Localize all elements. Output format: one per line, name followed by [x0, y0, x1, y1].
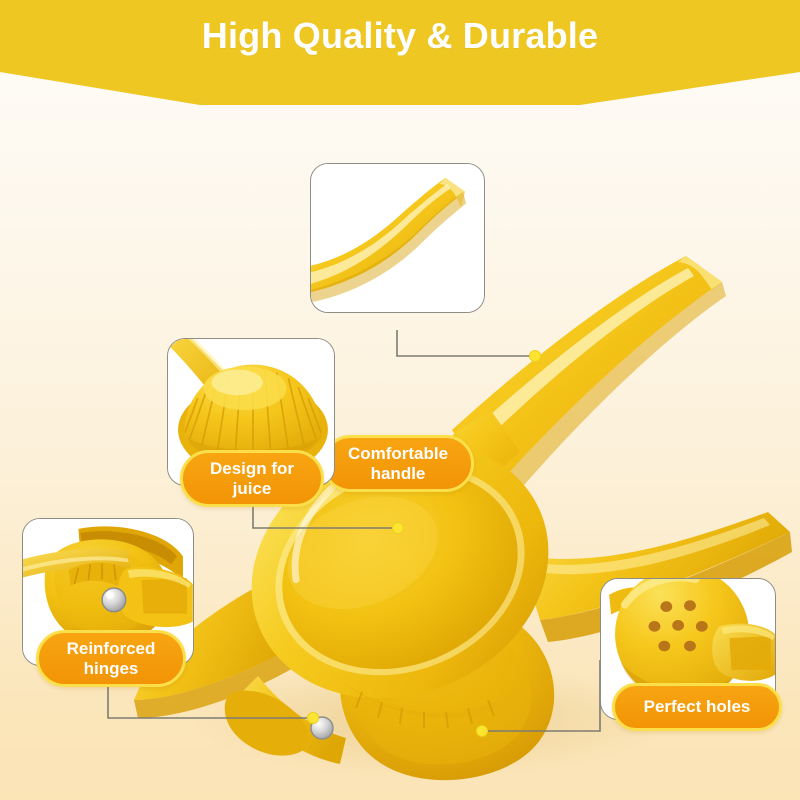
label-line-1: Design for: [210, 459, 294, 478]
callout-perfect-holes[interactable]: Perfect holes: [600, 578, 776, 720]
thumbnail-handle-grip: [310, 163, 485, 313]
callout-design-for-juice[interactable]: Design for juice: [167, 338, 335, 486]
callout-reinforced-hinges[interactable]: Reinforced hinges: [22, 518, 194, 666]
label-line-2: handle: [371, 464, 426, 483]
infographic-canvas: High Quality & Durable: [0, 0, 800, 800]
label-line-1: Comfortable: [348, 444, 448, 463]
label-line-2: juice: [233, 479, 272, 498]
page-title: High Quality & Durable: [0, 0, 800, 72]
callout-label-reinforced-hinges: Reinforced hinges: [36, 630, 186, 687]
callout-label-comfortable-handle: Comfortable handle: [322, 435, 474, 492]
callout-label-design-for-juice: Design for juice: [180, 450, 324, 507]
label-line-2: hinges: [84, 659, 139, 678]
label-line-1: Perfect holes: [644, 697, 751, 716]
callout-comfortable-handle[interactable]: Comfortable handle: [310, 163, 485, 313]
callout-label-perfect-holes: Perfect holes: [612, 683, 782, 731]
label-line-1: Reinforced: [67, 639, 156, 658]
